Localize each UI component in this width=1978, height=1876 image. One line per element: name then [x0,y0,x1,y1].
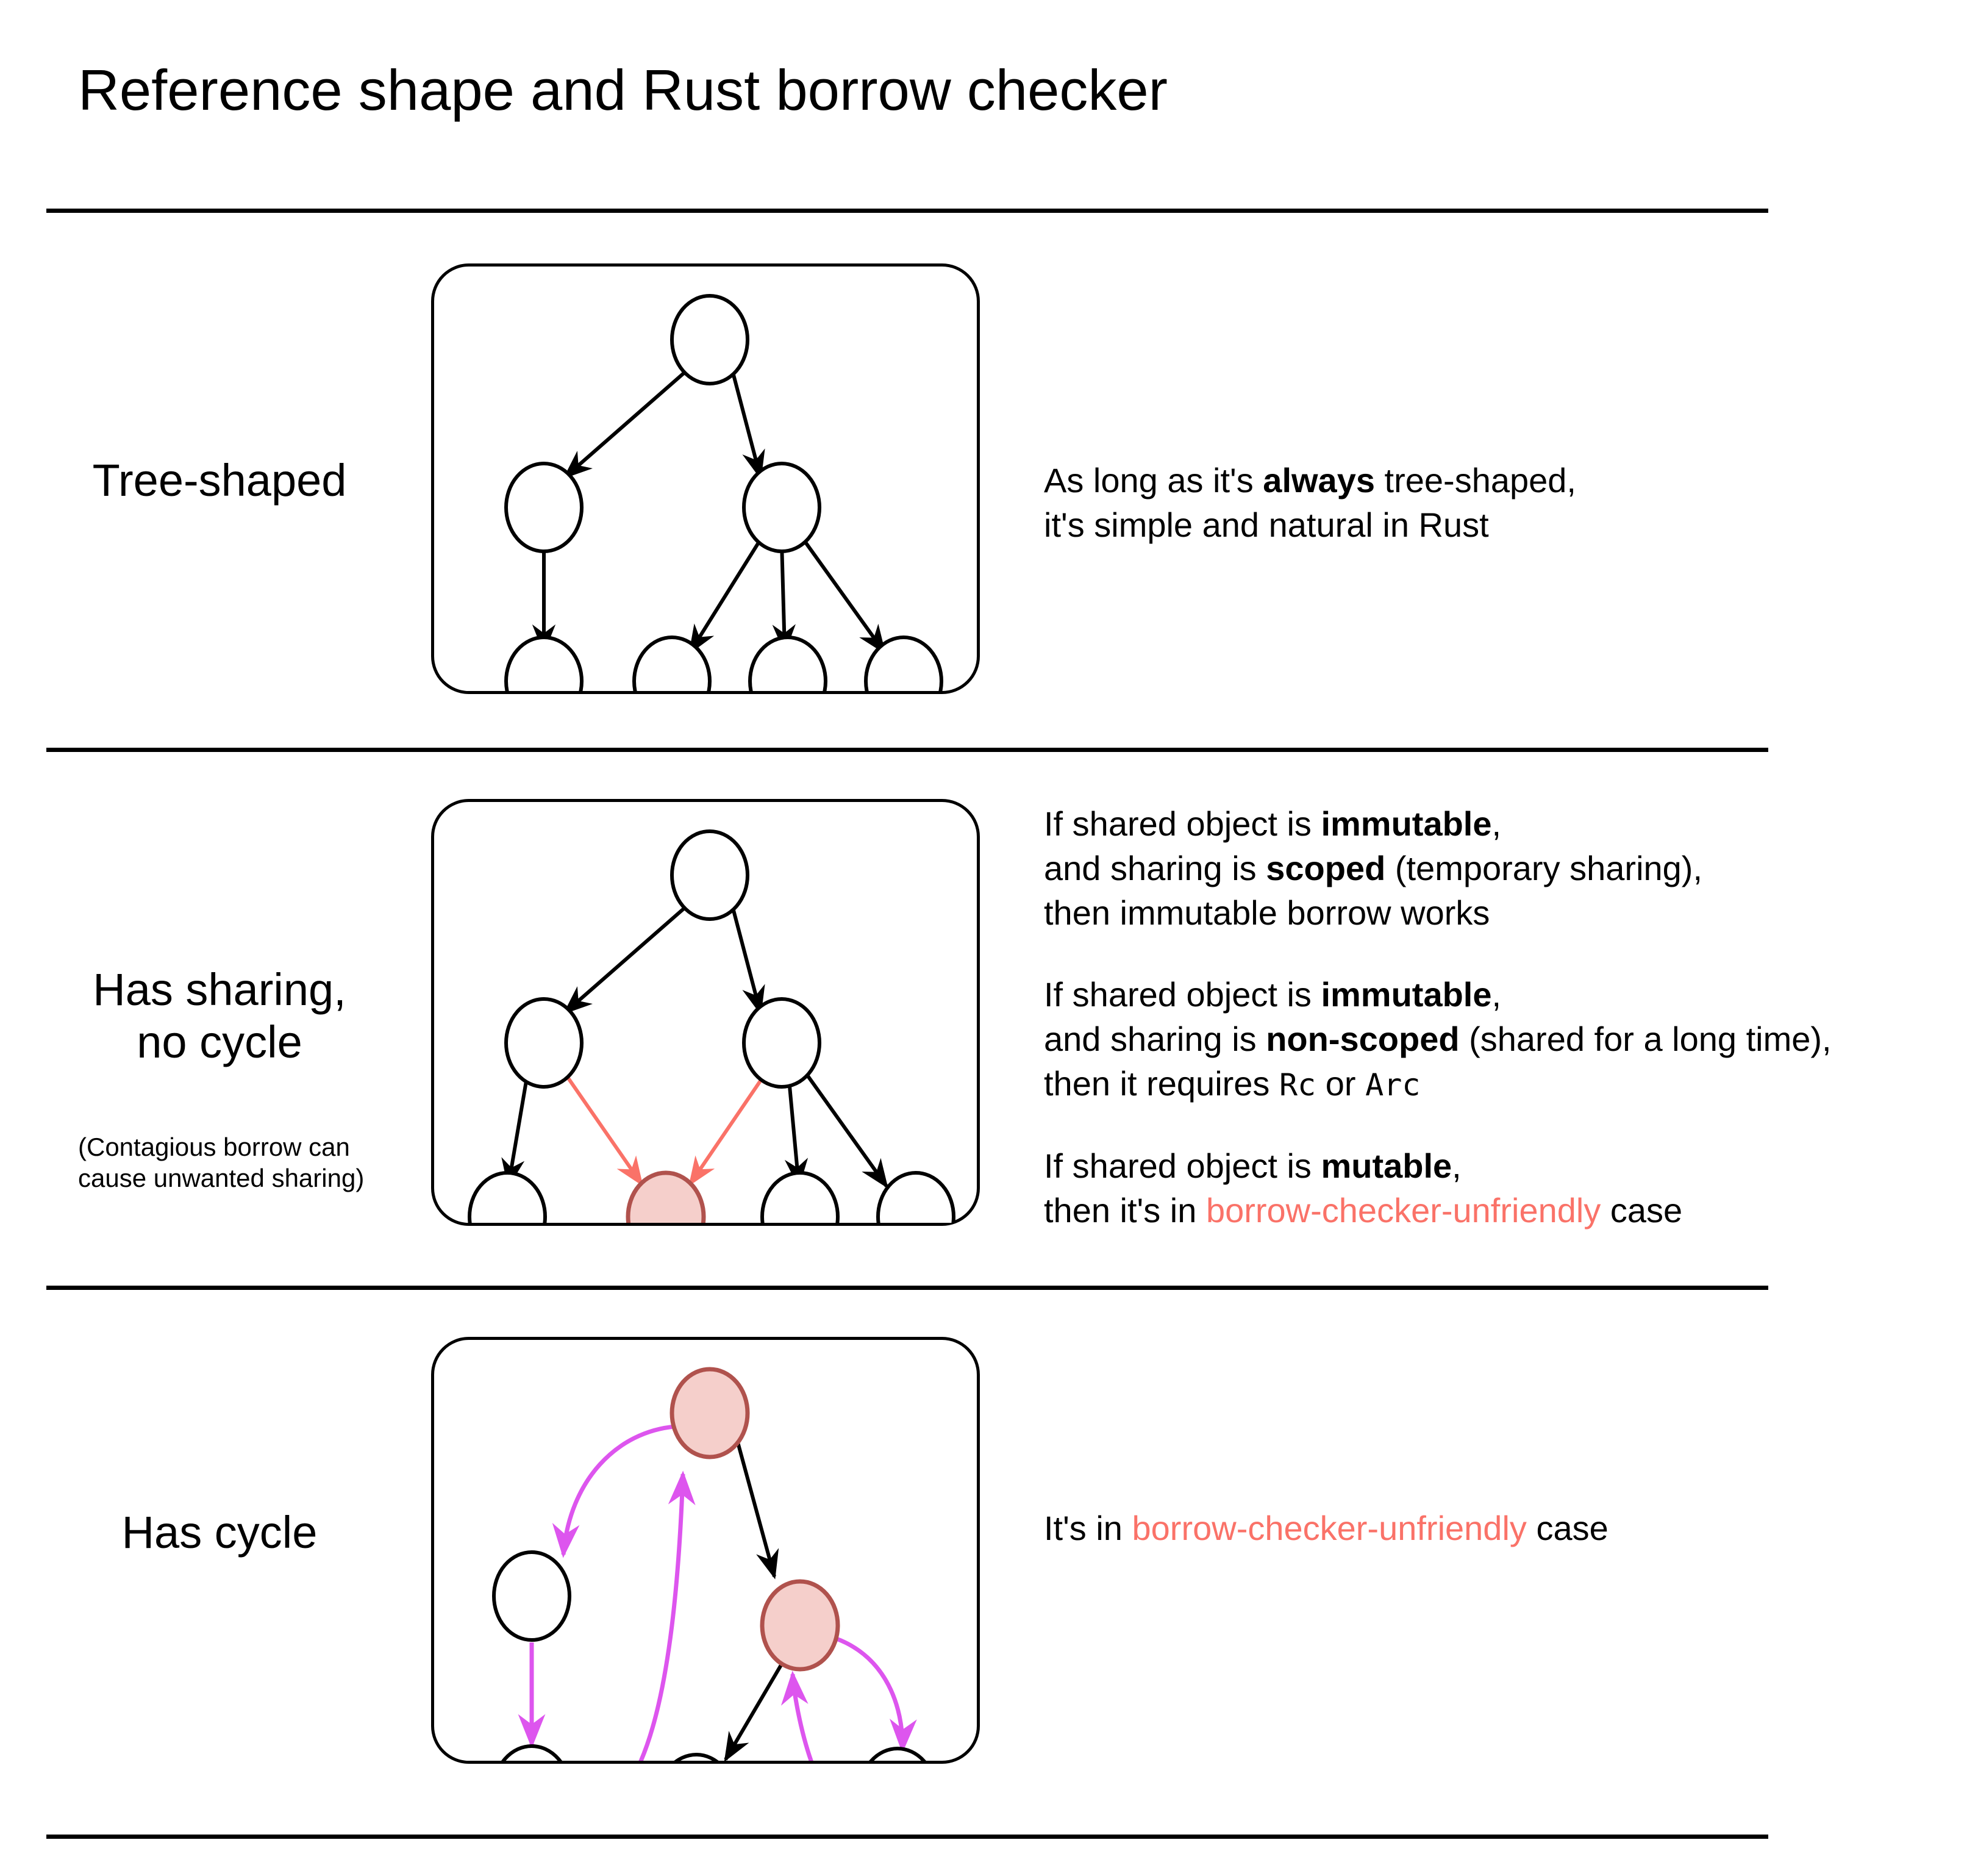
node-leaf-1 [470,1173,545,1223]
divider-row2 [46,1286,1768,1290]
node-right [744,464,819,551]
diagram-has-cycle [431,1337,980,1764]
edge-left-shared [567,1076,641,1184]
description-block: As long as it's always tree-shaped,it's … [1044,459,1576,548]
row-label-text: Has sharing, no cycle [37,964,402,1069]
edge-root-left [565,370,687,477]
edge-root-right [732,370,760,477]
cycle-graph-svg [434,1340,977,1761]
edge-leftbottom-top-curve [569,1474,683,1761]
diagram-tree-shaped [431,263,980,694]
edge-rightmid-centerbottom [726,1662,783,1760]
row-label-text: Tree-shaped [93,455,347,506]
description-block: If shared object is immutable,and sharin… [1044,973,1832,1106]
row-note-contagious-borrow: (Contagious borrow can cause unwanted sh… [78,1131,432,1194]
description-block: It's in borrow-checker-unfriendly case [1044,1506,1608,1551]
sharing-nodes [470,831,954,1223]
node-leaf-1 [506,637,582,691]
description-has-cycle: It's in borrow-checker-unfriendly case [1044,1506,1608,1551]
cycle-edges-magenta [532,1427,902,1761]
description-block: If shared object is mutable,then it's in… [1044,1144,1832,1233]
tree-graph-svg [434,267,977,691]
edge-root-right [732,906,760,1012]
tree-edges [544,370,884,652]
node-left-bottom [494,1746,569,1761]
sharing-graph-svg [434,802,977,1223]
row-label-text: Has cycle [122,1507,318,1558]
edge-right-shared [690,1076,763,1184]
edge-right-leaf1 [690,540,760,652]
node-leaf-3 [750,637,826,691]
edge-right-leaf-mid [789,1079,799,1185]
node-left [506,464,582,551]
node-top-highlighted [672,1369,748,1457]
node-leaf-2 [634,637,710,691]
diagram-has-sharing [431,799,980,1226]
sharing-edges-red [567,1076,763,1184]
edge-right-leaf2 [782,542,785,651]
edge-right-leaf3 [804,540,884,652]
tree-nodes [506,296,941,691]
description-has-sharing: If shared object is immutable,and sharin… [1044,802,1832,1233]
edge-right-leaf-right [807,1075,887,1186]
node-root [672,831,748,919]
edge-top-rightmid [738,1442,774,1577]
node-right-bottom [860,1749,935,1761]
edge-rightmid-rightbottom-curve [837,1639,902,1750]
node-leaf-4 [878,1173,954,1223]
edge-left-leaf1 [509,1078,527,1185]
edge-root-left [565,906,687,1012]
node-root [672,296,748,384]
cycle-nodes [494,1369,935,1761]
divider-top [46,209,1768,213]
row-label-has-sharing: Has sharing, no cycle [37,964,402,1069]
page-title: Reference shape and Rust borrow checker [78,59,1168,121]
edge-rightbottom-rightmid-curve [793,1674,861,1761]
divider-row1 [46,748,1768,752]
row-label-tree-shaped: Tree-shaped [37,454,402,507]
node-left-mid [494,1552,569,1640]
description-tree-shaped: As long as it's always tree-shaped,it's … [1044,459,1576,548]
node-right [744,999,819,1087]
edge-top-leftmid-curve [563,1427,676,1555]
description-block: If shared object is immutable,and sharin… [1044,802,1832,935]
node-right-mid-highlighted [762,1581,838,1669]
node-left [506,999,582,1087]
divider-bottom [46,1835,1768,1839]
node-leaf-3 [762,1173,838,1223]
node-center-bottom [659,1755,734,1761]
row-label-has-cycle: Has cycle [37,1506,402,1559]
